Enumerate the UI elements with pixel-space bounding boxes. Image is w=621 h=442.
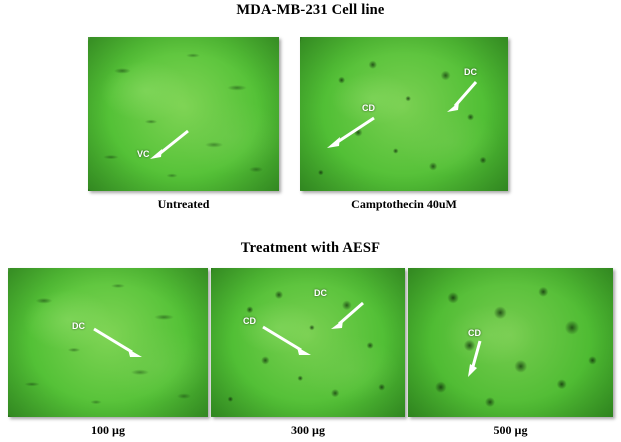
annotation-label-cd: CD xyxy=(468,328,481,338)
caption-untreated: Untreated xyxy=(88,197,279,212)
annotation-label-cd: CD xyxy=(362,103,375,113)
annotation-label-dc: DC xyxy=(72,321,85,331)
top-title: MDA-MB-231 Cell line xyxy=(0,2,621,19)
figure-panel: MDA-MB-231 Cell line VC Untreated CD DC … xyxy=(0,0,621,442)
micrograph-image-aesf-300 xyxy=(211,268,405,417)
micrograph-aesf-500: CD xyxy=(408,268,613,417)
caption-aesf-500: 500 µg xyxy=(408,423,613,438)
micrograph-image-aesf-100 xyxy=(8,268,208,417)
micrograph-image-untreated xyxy=(88,37,279,191)
micrograph-image-aesf-500 xyxy=(408,268,613,417)
annotation-label-dc: DC xyxy=(464,67,477,77)
micrograph-image-camptothecin xyxy=(300,37,508,191)
annotation-label-vc: VC xyxy=(137,149,150,159)
micrograph-untreated: VC xyxy=(88,37,279,191)
micrograph-aesf-100: DC xyxy=(8,268,208,417)
bottom-title: Treatment with AESF xyxy=(0,240,621,257)
micrograph-aesf-300: CD DC xyxy=(211,268,405,417)
annotation-label-dc: DC xyxy=(314,288,327,298)
caption-aesf-300: 300 µg xyxy=(211,423,405,438)
caption-aesf-100: 100 µg xyxy=(8,423,208,438)
caption-camptothecin: Camptothecin 40uM xyxy=(300,197,508,212)
annotation-label-cd: CD xyxy=(243,316,256,326)
micrograph-camptothecin: CD DC xyxy=(300,37,508,191)
